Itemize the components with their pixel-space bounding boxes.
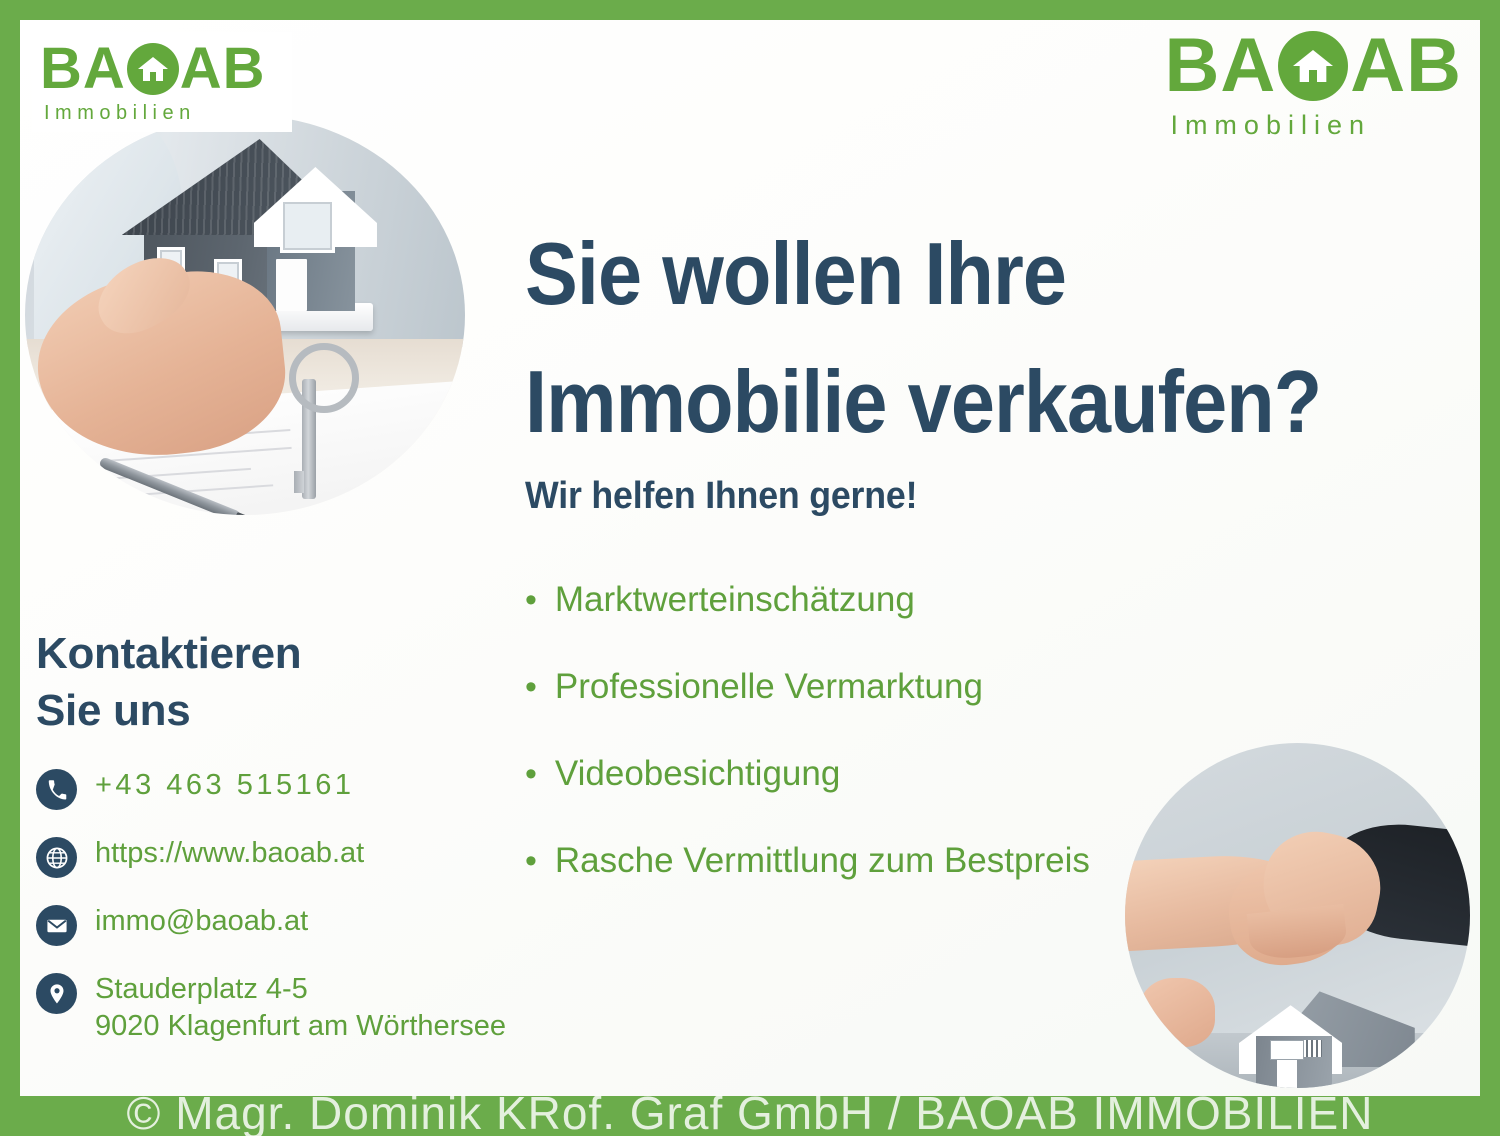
globe-icon — [36, 837, 77, 878]
list-item-label: Professionelle Vermarktung — [555, 667, 983, 707]
house-icon — [1278, 31, 1348, 101]
list-item: • Marktwerteinschätzung — [525, 580, 1285, 620]
contact-address-line-2: 9020 Klagenfurt am Wörthersee — [95, 1010, 506, 1042]
contact-row-address[interactable]: Stauderplatz 4-5 9020 Klagenfurt am Wört… — [36, 971, 596, 1045]
location-pin-icon — [36, 973, 77, 1014]
logo-brand-part1: BA — [1164, 28, 1276, 104]
contact-heading: Kontaktieren Sie uns — [36, 625, 596, 739]
list-item-label: Videobesichtigung — [555, 754, 840, 794]
logo-brand-part1: BA — [40, 40, 126, 98]
contact-heading-line-2: Sie uns — [36, 682, 596, 739]
logo-tagline: Immobilien — [1170, 110, 1462, 141]
envelope-icon — [36, 905, 77, 946]
contact-row-website[interactable]: https://www.baoab.at — [36, 835, 596, 878]
contact-phone-value: +43 463 515161 — [95, 767, 354, 804]
benefits-list: • Marktwerteinschätzung • Professionelle… — [525, 580, 1285, 928]
subheadline: Wir helfen Ihnen gerne! — [525, 475, 917, 518]
list-item-label: Rasche Vermittlung zum Bestpreis — [555, 841, 1090, 881]
list-item: • Professionelle Vermarktung — [525, 667, 1285, 707]
logo-top-left[interactable]: BA AB Immobilien — [32, 32, 292, 132]
headline-line-2: Immobilie verkaufen? — [525, 338, 1371, 466]
bullet-dot-icon: • — [525, 583, 537, 617]
logo-top-right[interactable]: BA AB Immobilien — [1164, 28, 1462, 141]
contact-address-line-1: Stauderplatz 4-5 — [95, 973, 308, 1005]
contact-address-value: Stauderplatz 4-5 9020 Klagenfurt am Wört… — [95, 971, 506, 1045]
logo-wordmark: BA AB — [40, 40, 292, 98]
contact-website-value: https://www.baoab.at — [95, 835, 364, 872]
contact-row-phone[interactable]: +43 463 515161 — [36, 767, 596, 810]
logo-tagline: Immobilien — [44, 102, 292, 125]
house-icon — [127, 43, 179, 95]
contact-heading-line-1: Kontaktieren — [36, 625, 596, 682]
logo-brand-part2: AB — [180, 40, 266, 98]
contact-row-email[interactable]: immo@baoab.at — [36, 903, 596, 946]
list-item-label: Marktwerteinschätzung — [555, 580, 915, 620]
logo-brand-part2: AB — [1350, 28, 1462, 104]
logo-wordmark: BA AB — [1164, 28, 1462, 104]
list-item: • Rasche Vermittlung zum Bestpreis — [525, 841, 1285, 881]
hand-holding-house-photo — [25, 115, 465, 515]
contact-block: Kontaktieren Sie uns +43 463 515161 — [36, 625, 596, 1071]
poster-canvas: BA AB Immobilien BA AB — [20, 20, 1480, 1096]
poster-root: BA AB Immobilien BA AB — [0, 0, 1500, 1136]
headline-line-1: Sie wollen Ihre — [525, 210, 1371, 338]
headline-block: Sie wollen Ihre Immobilie verkaufen? — [525, 210, 1465, 465]
phone-icon — [36, 769, 77, 810]
contact-email-value: immo@baoab.at — [95, 903, 308, 940]
list-item: • Videobesichtigung — [525, 754, 1285, 794]
